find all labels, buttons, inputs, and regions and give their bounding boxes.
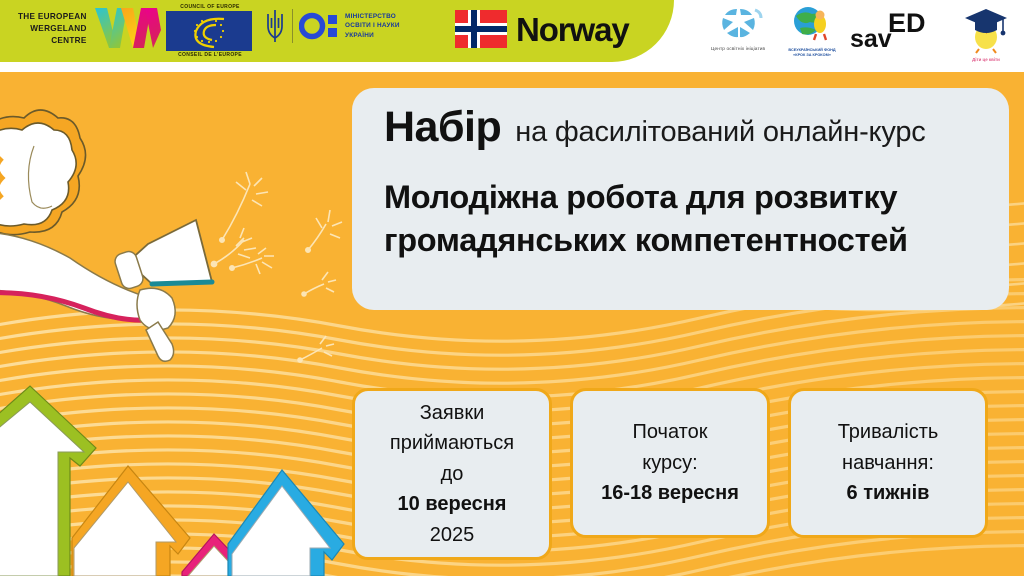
ewc-line: WERGELAND [18, 23, 87, 35]
announcement-kicker-strong: Набір [384, 106, 501, 149]
osvit-caption: Центр освітніх ініціатив [690, 47, 786, 53]
logo-centre-of-educational-initiatives: Центр освітніх ініціатив [690, 6, 786, 53]
poster-root: Набір на фасилітований онлайн-курс Молод… [0, 0, 1024, 576]
course-title: Молодіжна робота для розвитку громадянсь… [384, 176, 987, 262]
info-line: курсу: [581, 448, 759, 478]
main-announcement-card: Набір на фасилітований онлайн-курс Молод… [352, 88, 1009, 310]
announcement-kicker-light: на фасилітований онлайн-курс [515, 118, 925, 147]
mon-wordmark-text: МІНІСТЕРСТВО ОСВІТИ І НАУКИ УКРАЇНИ [345, 12, 400, 41]
fund-caption: ВСЕУКРАЇНСЬКИЙ ФОНД «КРОК ЗА КРОКОМ» [775, 48, 849, 57]
mon-emblem-icon [299, 9, 339, 43]
info-line-emphasis: 6 тижнів [799, 478, 977, 508]
logo-ministry-of-education-ukraine: МІНІСТЕРСТВО ОСВІТИ І НАУКИ УКРАЇНИ [264, 8, 400, 44]
info-line: Заявки [363, 398, 541, 428]
coe-flag [166, 11, 252, 51]
mon-line: ОСВІТИ І НАУКИ [345, 21, 400, 31]
mon-line: УКРАЇНИ [345, 31, 400, 41]
info-box-applications-deadline: Заявки приймаються до 10 вересня 2025 [352, 388, 552, 560]
logo-norway-grants: Norway [455, 10, 629, 48]
ewc-line: THE EUROPEAN [18, 11, 87, 23]
info-line: навчання: [799, 448, 977, 478]
mon-line: МІНІСТЕРСТВО [345, 12, 400, 22]
chick-graduate-icon [957, 4, 1015, 54]
saved-wordmark-icon: sav ED [848, 9, 932, 53]
header-logo-bar: THE EUROPEAN WERGELAND CENTRE [0, 0, 1024, 68]
logo-council-of-europe: COUNCIL OF EUROPE [166, 4, 254, 58]
info-box-course-start: Початок курсу: 16-18 вересня [570, 388, 770, 538]
logo-charity-fund-step-by-step: ВСЕУКРАЇНСЬКИЙ ФОНД «КРОК ЗА КРОКОМ» [775, 4, 849, 57]
norway-wordmark: Norway [516, 13, 629, 46]
info-line: Початок [581, 417, 759, 447]
fund-caption-bottom: «КРОК ЗА КРОКОМ» [775, 53, 849, 58]
norway-flag-icon [455, 10, 507, 48]
info-box-course-duration: Тривалість навчання: 6 тижнів [788, 388, 988, 538]
saved-part-1: sav [850, 25, 892, 53]
info-boxes-row: Заявки приймаються до 10 вересня 2025 По… [352, 388, 1012, 560]
info-line: приймаються [363, 428, 541, 458]
info-line: до [363, 459, 541, 489]
saved-part-2: ED [888, 9, 926, 38]
coe-caption-bottom: CONSEIL DE L'EUROPE [166, 52, 254, 58]
coe-stars-icon [166, 11, 252, 51]
info-line: 2025 [363, 520, 541, 550]
ukraine-trident-icon [264, 8, 286, 44]
title-row: Набір на фасилітований онлайн-курс [384, 106, 993, 149]
ewc-line: CENTRE [18, 35, 87, 47]
chick-caption: Діти це квіти [955, 57, 1017, 62]
logo-saved: sav ED [848, 9, 932, 58]
info-line-emphasis: 10 вересня [363, 489, 541, 519]
coe-caption-top: COUNCIL OF EUROPE [166, 4, 254, 10]
mon-divider [292, 9, 293, 43]
ewc-w-mark-icon [93, 6, 163, 52]
info-line: Тривалість [799, 417, 977, 447]
ewc-wordmark-text: THE EUROPEAN WERGELAND CENTRE [18, 11, 87, 47]
osvit-globe-icon [711, 6, 765, 40]
logo-smart-chick: Діти це квіти [955, 4, 1017, 62]
info-line-emphasis: 16-18 вересня [581, 478, 759, 508]
logo-european-wergeland-centre: THE EUROPEAN WERGELAND CENTRE [18, 6, 163, 52]
fund-globe-child-icon [790, 4, 834, 42]
